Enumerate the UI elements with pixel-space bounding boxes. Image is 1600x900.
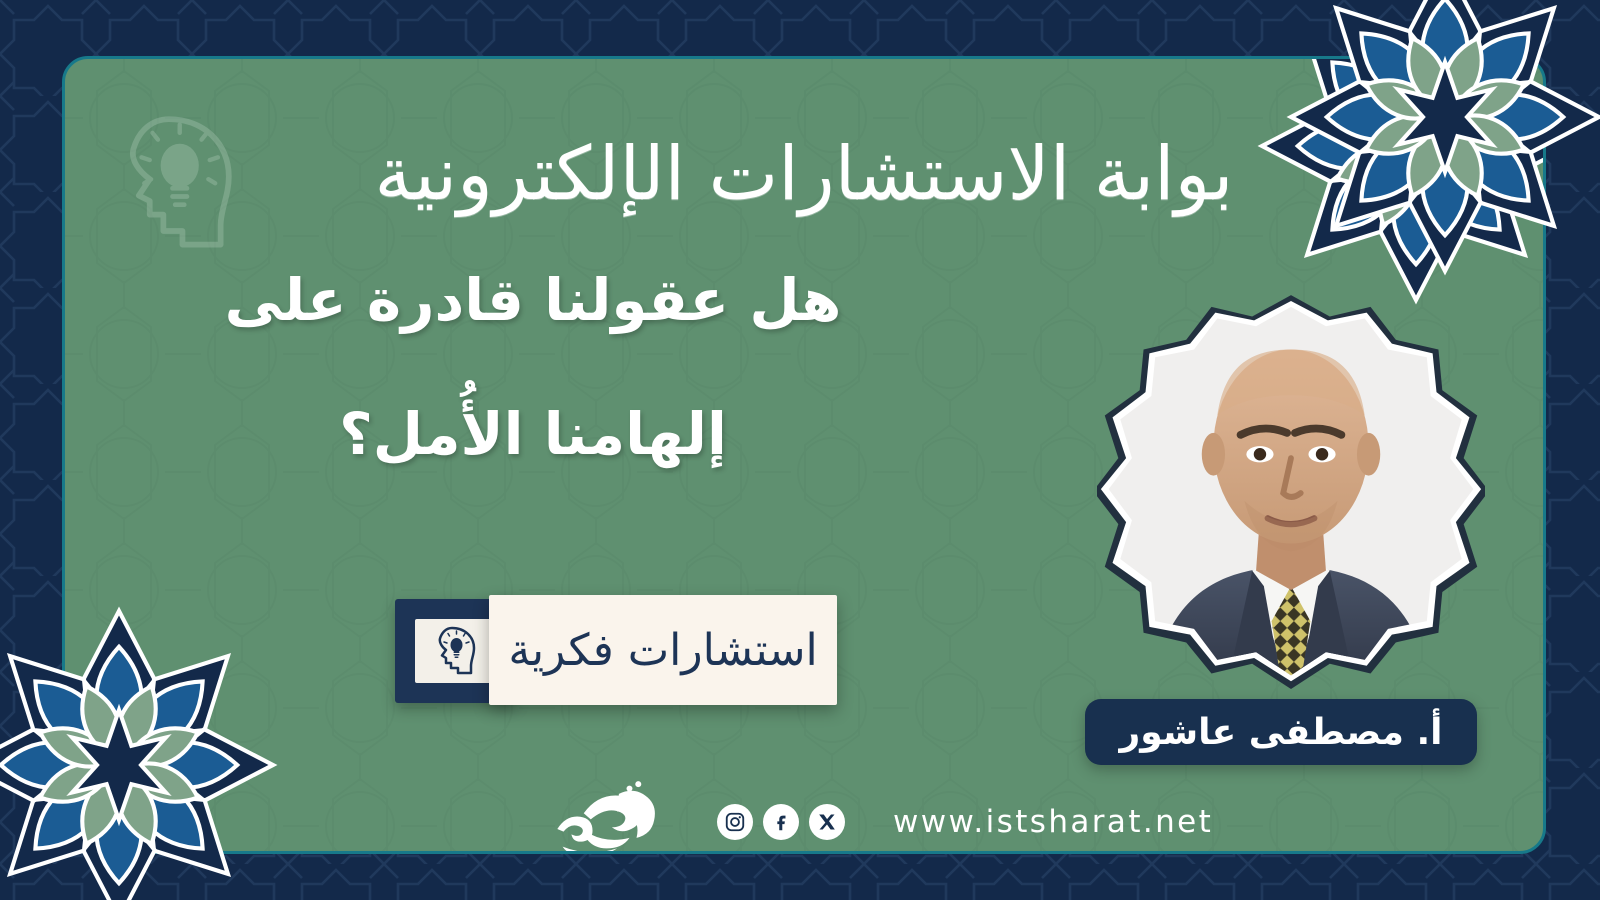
speaker-name: أ. مصطفى عاشور xyxy=(1119,712,1442,753)
badge-plate: استشارات فكرية xyxy=(489,595,837,705)
social-links xyxy=(717,804,845,840)
headline-line-1: هل عقولنا قادرة على xyxy=(213,271,853,329)
speaker-portrait xyxy=(1097,295,1485,695)
mujtama-logo xyxy=(545,776,677,854)
badge-icon-box xyxy=(415,619,495,683)
speaker-name-badge: أ. مصطفى عاشور xyxy=(1085,699,1477,765)
badge-label: استشارات فكرية xyxy=(508,625,817,676)
poster-stage: بوابة الاستشارات الإلكترونية هل عقولنا ق… xyxy=(0,0,1600,900)
head-lightbulb-icon xyxy=(430,624,480,679)
x-icon[interactable] xyxy=(809,804,845,840)
instagram-icon[interactable] xyxy=(717,804,753,840)
headline: هل عقولنا قادرة على إلهامنا الأُمل؟ xyxy=(213,271,853,463)
portal-title: بوابة الاستشارات الإلكترونية xyxy=(65,131,1543,218)
headline-line-2: إلهامنا الأُمل؟ xyxy=(213,405,853,463)
program-badge: استشارات فكرية xyxy=(395,595,837,707)
facebook-icon[interactable] xyxy=(763,804,799,840)
main-card: بوابة الاستشارات الإلكترونية هل عقولنا ق… xyxy=(62,56,1546,854)
website-url[interactable]: www.istsharat.net xyxy=(893,804,1213,840)
footer-bar: www.istsharat.net xyxy=(545,777,1213,854)
